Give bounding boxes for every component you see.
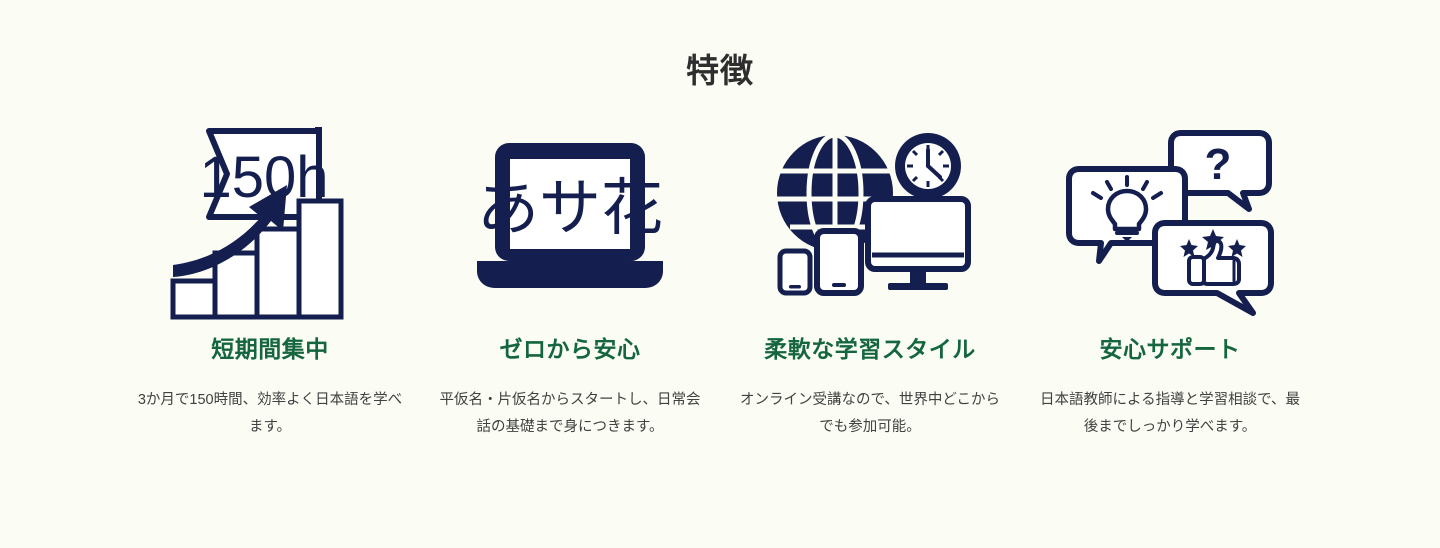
feature-card-from-zero: あサ花 ゼロから安心 平仮名・片仮名からスタートし、日常会話の基礎まで身につきま… (420, 121, 720, 441)
phone-icon (780, 251, 810, 293)
feature-title: 柔軟な学習スタイル (764, 335, 976, 365)
feature-description: 日本語教師による指導と学習相談で、最後までしっかり学べます。 (1034, 387, 1306, 441)
feature-card-support: ? (1020, 121, 1320, 441)
clock-icon (895, 133, 961, 199)
monitor-icon (868, 199, 968, 290)
feature-title: 短期間集中 (211, 335, 329, 365)
globe-clock-devices-icon (760, 121, 980, 321)
feature-list: 150h 短期間集中 3か月で150時間、効率よく日本語を学べます。 (0, 121, 1440, 441)
features-section-page: 特徴 150h (0, 0, 1440, 548)
feature-title: 安心サポート (1100, 335, 1241, 365)
feature-description: 平仮名・片仮名からスタートし、日常会話の基礎まで身につきます。 (434, 387, 706, 441)
feature-description: 3か月で150時間、効率よく日本語を学べます。 (134, 387, 406, 441)
feature-title: ゼロから安心 (500, 335, 641, 365)
page-title: 特徴 (0, 0, 1440, 91)
thumbs-up-speech-bubble-icon (1155, 223, 1271, 313)
speech-bubbles-support-icon: ? (1060, 121, 1280, 321)
feature-card-flexible-style: 柔軟な学習スタイル オンライン受講なので、世界中どこからでも参加可能。 (720, 121, 1020, 441)
question-mark-label: ? (1204, 140, 1231, 189)
tablet-icon (817, 231, 861, 293)
flag-150h-growth-chart-icon: 150h (160, 121, 380, 321)
feature-description: オンライン受講なので、世界中どこからでも参加可能。 (734, 387, 1006, 441)
feature-card-short-intensive: 150h 短期間集中 3か月で150時間、効率よく日本語を学べます。 (120, 121, 420, 441)
laptop-japanese-characters-icon: あサ花 (460, 121, 680, 321)
laptop-screen-label: あサ花 (477, 171, 663, 244)
